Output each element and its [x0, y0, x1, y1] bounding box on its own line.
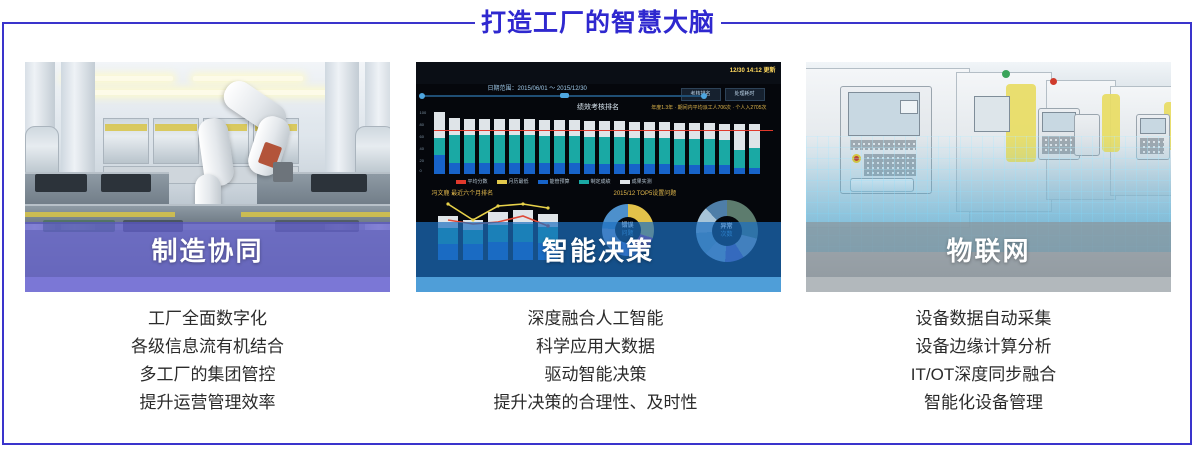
dashboard-range-slider[interactable]	[422, 95, 704, 97]
text-line: 智能化设备管理	[801, 389, 1166, 417]
page-title-bar: 打造工厂的智慧大脑	[0, 4, 1196, 42]
card-label-manufacturing: 制造协同	[25, 222, 390, 277]
dashboard-y-axis: 100 80 60 40 20 0	[420, 112, 434, 174]
text-line: IT/OT深度同步融合	[801, 361, 1166, 389]
dashboard-date-range: 日期范围：2015/06/01 ～ 2015/12/30	[488, 83, 587, 92]
band-foot	[806, 277, 1171, 292]
text-line: 科学应用大数据	[413, 333, 778, 361]
card-label-decision: 智能决策	[416, 222, 781, 277]
text-line: 提升决策的合理性、及时性	[413, 389, 778, 417]
card-label-band-decision: 智能决策	[416, 222, 781, 292]
title-rule-left	[233, 22, 461, 24]
card-label-band-manufacturing: 制造协同	[25, 222, 390, 292]
text-line: 设备数据自动采集	[801, 305, 1166, 333]
card-row: 制造协同 12/30 14:12 更新 日期范围：2015/06/01 ～ 20…	[0, 62, 1196, 294]
feature-text-row: 工厂全面数字化 各级信息流有机结合 多工厂的集团管控 提升运营管理效率 深度融合…	[0, 305, 1196, 417]
title-rule-right	[735, 22, 963, 24]
card-label-iot: 物联网	[806, 222, 1171, 277]
text-line: 工厂全面数字化	[25, 305, 390, 333]
text-line: 提升运营管理效率	[25, 389, 390, 417]
page-title: 打造工厂的智慧大脑	[475, 6, 721, 40]
dashboard-legend: 平均分数 月历最低 能管预算 制定成绩 成果实测	[456, 178, 652, 185]
dashboard-button-duration[interactable]: 处理耗时	[725, 88, 765, 101]
text-column-iot: 设备数据自动采集 设备边缘计算分析 IT/OT深度同步融合 智能化设备管理	[801, 305, 1166, 417]
band-foot	[25, 277, 390, 292]
text-line: 设备边缘计算分析	[801, 333, 1166, 361]
dashboard-subtitle-left: 冯文鹿 最近六个月排名	[432, 188, 494, 197]
text-column-manufacturing: 工厂全面数字化 各级信息流有机结合 多工厂的集团管控 提升运营管理效率	[25, 305, 390, 417]
card-label-band-iot: 物联网	[806, 222, 1171, 292]
dashboard-note: 年度1.3年 · 期间内平均派工人706次 · 个人入2705次	[651, 104, 766, 111]
card-intelligent-decision[interactable]: 12/30 14:12 更新 日期范围：2015/06/01 ～ 2015/12…	[416, 62, 781, 292]
text-column-decision: 深度融合人工智能 科学应用大数据 驱动智能决策 提升决策的合理性、及时性	[413, 305, 778, 417]
band-foot	[416, 277, 781, 292]
dashboard-timestamp: 12/30 14:12 更新	[730, 65, 776, 74]
card-iot[interactable]: 物联网	[806, 62, 1171, 292]
dashboard-bar-chart	[434, 112, 773, 174]
text-line: 驱动智能决策	[413, 361, 778, 389]
card-manufacturing-collaboration[interactable]: 制造协同	[25, 62, 390, 292]
text-line: 深度融合人工智能	[413, 305, 778, 333]
dashboard-subtitle-right: 2015/12 TOP5设置问题	[614, 188, 677, 197]
text-line: 多工厂的集团管控	[25, 361, 390, 389]
text-line: 各级信息流有机结合	[25, 333, 390, 361]
